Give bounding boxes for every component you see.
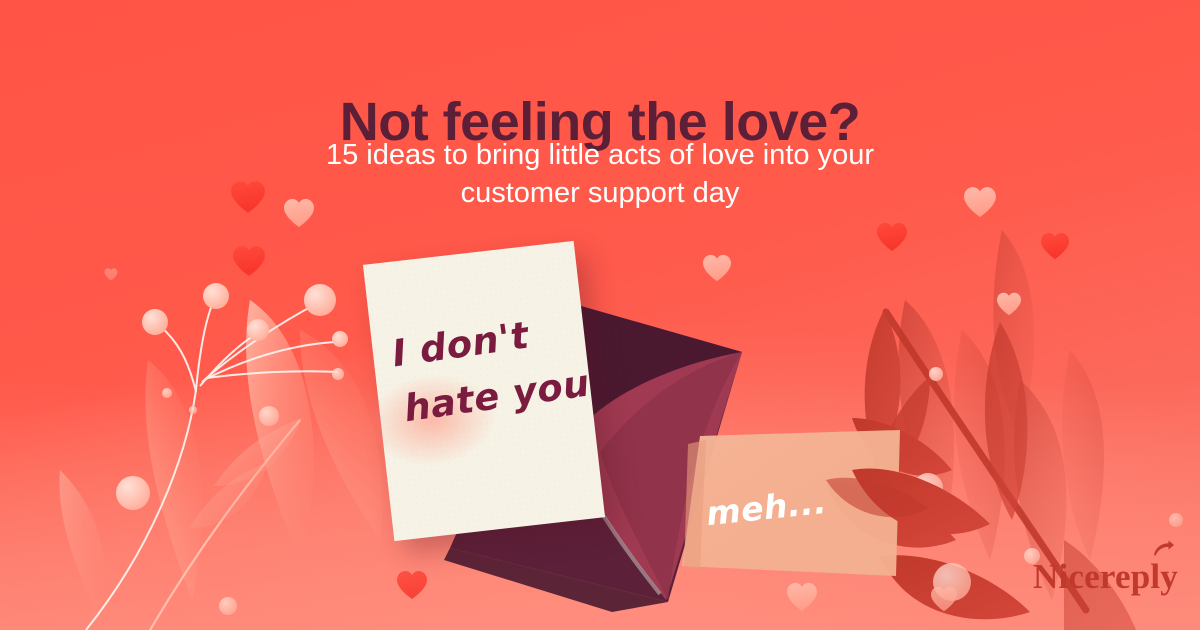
subtitle-line-2: customer support day (250, 174, 950, 212)
meh-card-text: meh... (704, 482, 828, 533)
reply-arrow-icon (1151, 540, 1175, 558)
logo-wordmark: Nicereply (1033, 559, 1178, 594)
note-card: I don't hate you (363, 241, 605, 541)
page-subtitle: 15 ideas to bring little acts of love in… (250, 136, 950, 213)
banner-canvas: Not feeling the love? 15 ideas to bring … (0, 0, 1200, 630)
logo-text-label: Nicereply (1033, 557, 1178, 596)
subtitle-line-1: 15 ideas to bring little acts of love in… (250, 136, 950, 174)
nicereply-logo[interactable]: Nicereply (1033, 559, 1178, 594)
meh-card: meh... (688, 430, 900, 580)
